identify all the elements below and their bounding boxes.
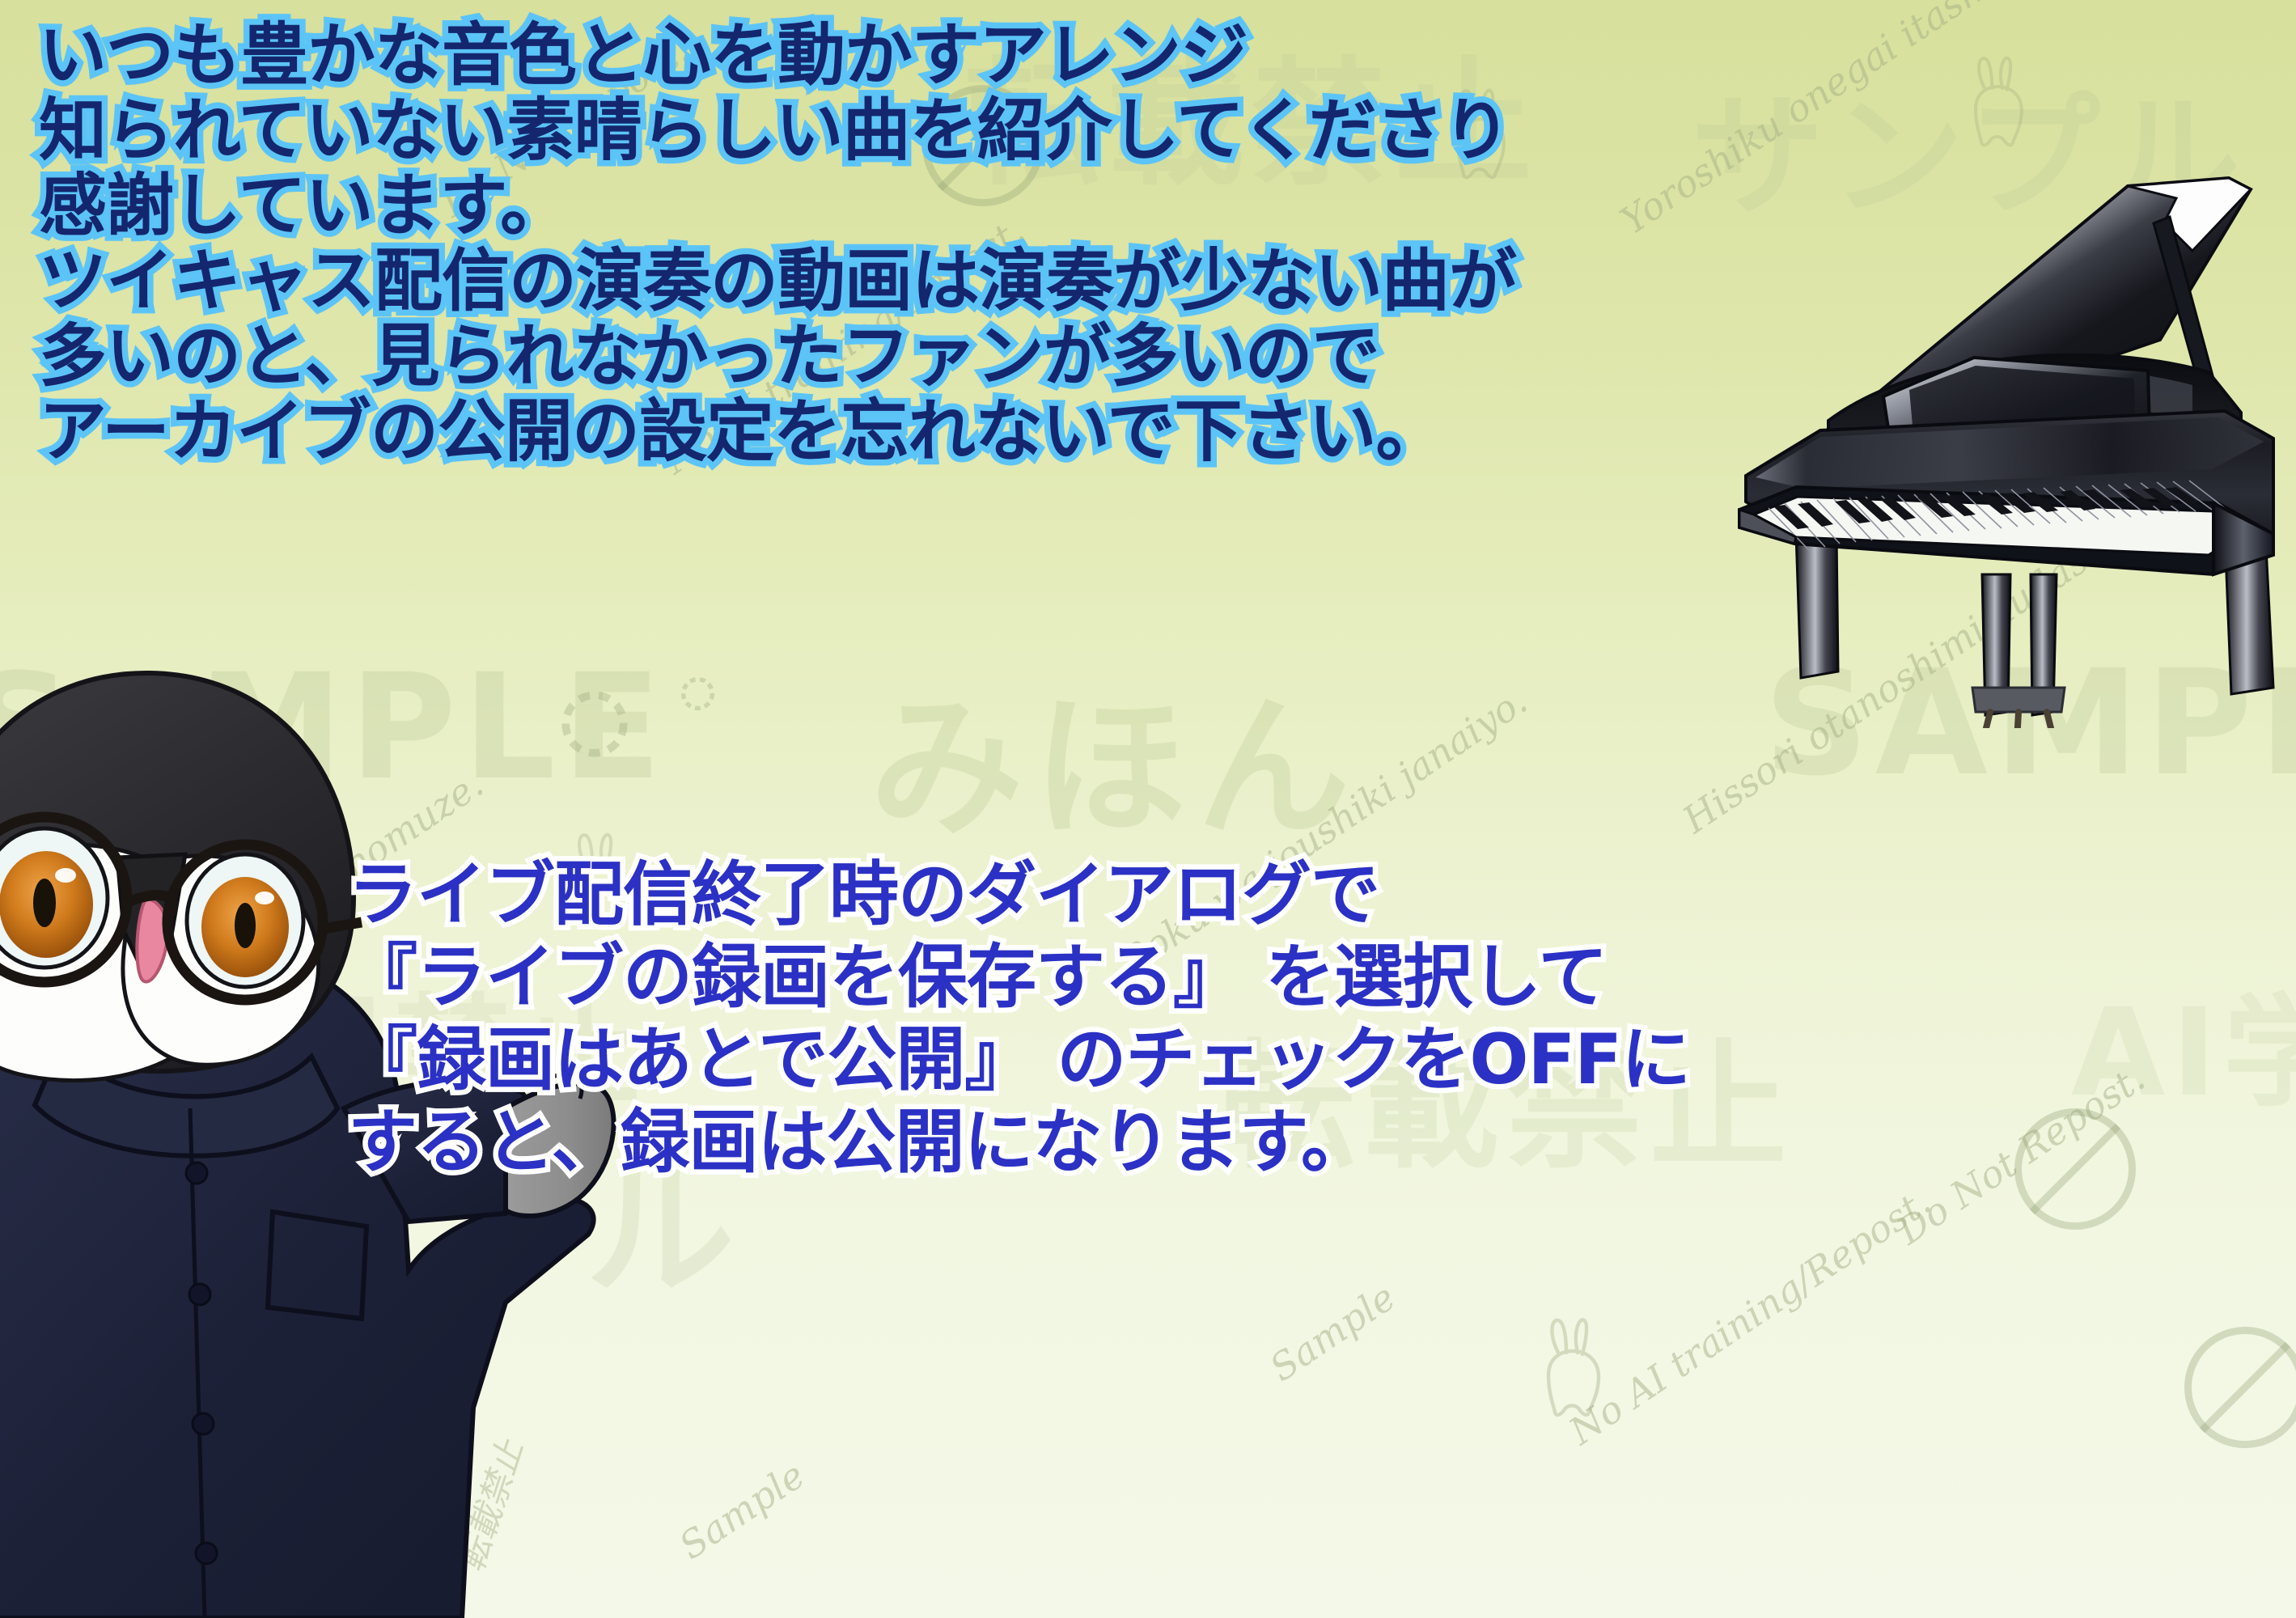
grand-piano-illustration bbox=[1707, 154, 2296, 728]
top-message-line: いつも豊かな音色と心を動かすアレンジ bbox=[39, 18, 1516, 93]
watermark-handwritten: Sample bbox=[1262, 1275, 1403, 1390]
rabbit-doodle-icon bbox=[1529, 1311, 1626, 1432]
bottom-message-line: すると、録画は公開になります。 bbox=[348, 1101, 1690, 1184]
top-message-line: 知られていない素晴らしい曲を紹介してくださり bbox=[39, 93, 1516, 168]
top-message-line: 多いのと、見られなかったファンが多いので bbox=[39, 319, 1516, 394]
poster-canvas: SAMPLE SAMPLE サンプル みほん 転載禁止 転載禁止 AI学習禁止 … bbox=[0, 0, 2296, 1618]
watermark-kanji-bottom-right: AI学習禁止 bbox=[2071, 955, 2296, 1130]
no-repost-icon bbox=[2014, 1108, 2136, 1230]
top-message-line: 感謝しています。 bbox=[39, 168, 1516, 244]
watermark-mihon: みほん bbox=[870, 643, 1360, 866]
bottom-message-line: 『録画はあとで公開』 のチェックをOFFに bbox=[348, 1019, 1690, 1101]
top-message-line: ツイキャス配信の演奏の動画は演奏が少ない曲が bbox=[39, 244, 1516, 319]
rabbit-doodle-icon bbox=[1958, 49, 2047, 162]
watermark-handwritten: No AI training/Repost. bbox=[1561, 1180, 1938, 1454]
dotted-ring-icon bbox=[676, 671, 720, 716]
watermark-handwritten: Sample bbox=[671, 1453, 812, 1568]
bottom-message-block: ライブ配信終了時のダイアログで 『ライブの録画を保存する』 を選択して 『録画は… bbox=[348, 853, 1690, 1184]
bottom-message-line: 『ライブの録画を保存する』 を選択して bbox=[348, 936, 1690, 1019]
watermark-handwritten: Do Not Repost. bbox=[1889, 1056, 2152, 1253]
top-message-block: いつも豊かな音色と心を動かすアレンジ 知られていない素晴らしい曲を紹介してくださ… bbox=[39, 18, 1516, 469]
no-repost-icon bbox=[2184, 1327, 2296, 1448]
bottom-message-line: ライブ配信終了時のダイアログで bbox=[348, 853, 1690, 936]
top-message-line: アーカイブの公開の設定を忘れないで下さい。 bbox=[39, 394, 1516, 469]
